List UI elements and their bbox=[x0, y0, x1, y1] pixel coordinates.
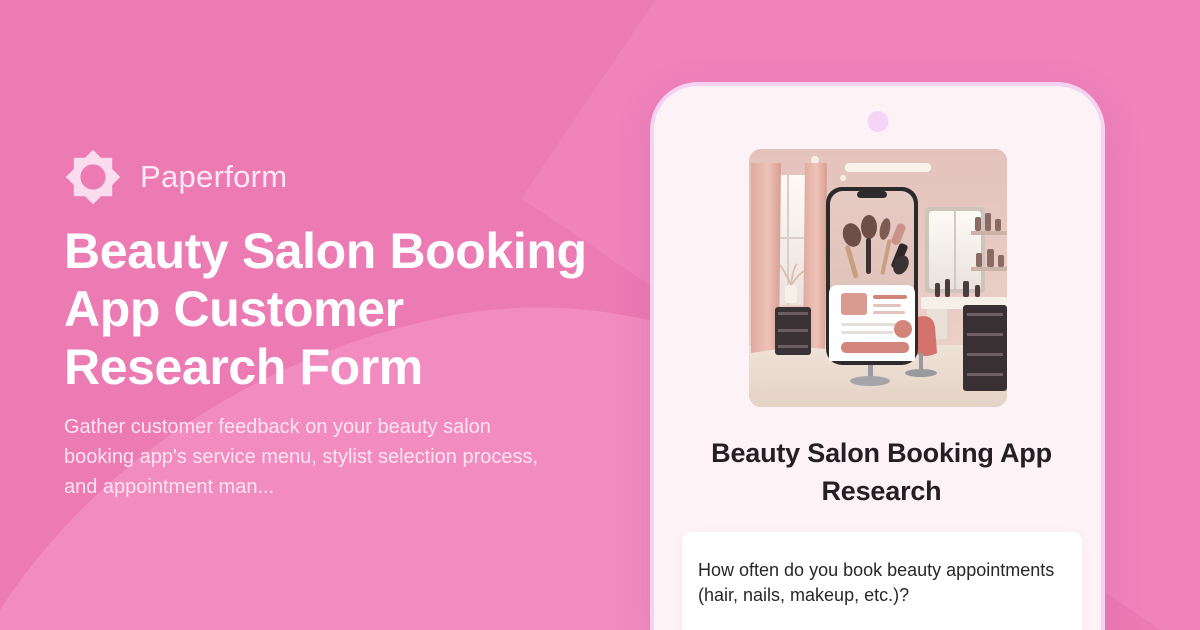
promo-banner: Paperform Beauty Salon Booking App Custo… bbox=[0, 0, 1200, 630]
left-content-column: Paperform Beauty Salon Booking App Custo… bbox=[64, 0, 624, 630]
phone-mockup: Beauty Salon Booking App Research How of… bbox=[650, 82, 1105, 630]
form-title: Beauty Salon Booking App Research bbox=[680, 434, 1083, 510]
brand-name: Paperform bbox=[140, 159, 287, 195]
paperform-logo-icon bbox=[64, 148, 122, 206]
brand-lockup: Paperform bbox=[64, 148, 287, 206]
page-title: Beauty Salon Booking App Customer Resear… bbox=[64, 222, 604, 396]
question-card[interactable]: How often do you book beauty appointment… bbox=[682, 532, 1082, 630]
form-hero-image bbox=[749, 149, 1007, 407]
question-label: How often do you book beauty appointment… bbox=[698, 558, 1068, 608]
camera-dot-icon bbox=[867, 111, 888, 132]
page-description: Gather customer feedback on your beauty … bbox=[64, 412, 564, 502]
